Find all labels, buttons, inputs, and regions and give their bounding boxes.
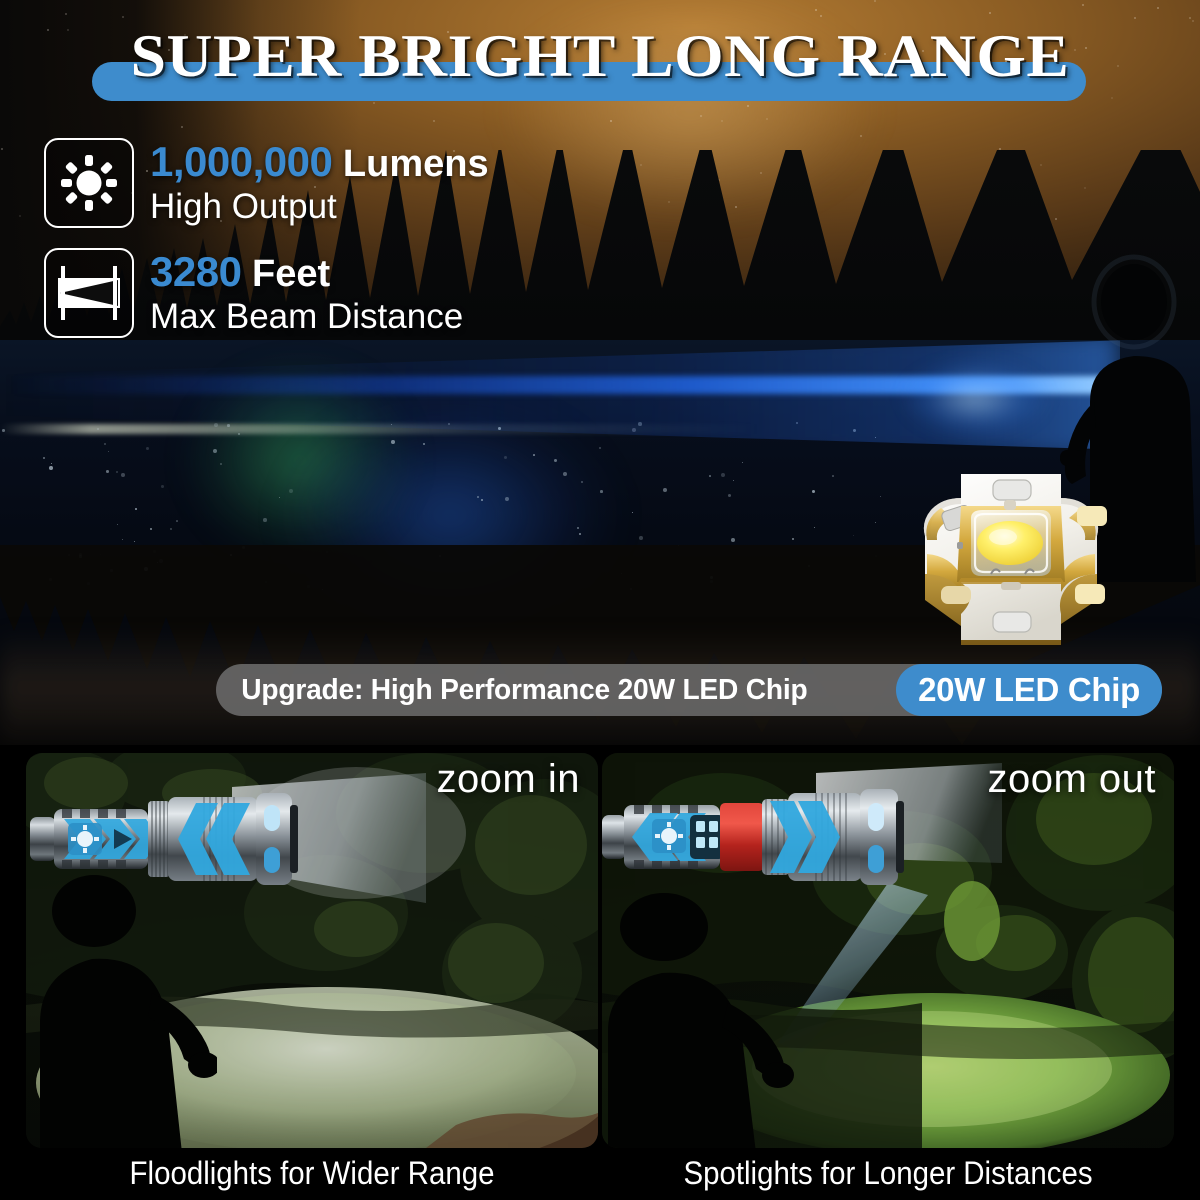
spec-text-lumens: 1,000,000 Lumens High Output — [150, 138, 489, 228]
mode-label-spot: zoom out — [987, 757, 1156, 802]
spec-text-distance: 3280 Feet Max Beam Distance — [150, 248, 463, 338]
spec-caption: Max Beam Distance — [150, 296, 463, 338]
person-silhouette-flood — [32, 873, 217, 1148]
infographic-root: SUPER BRIGHT LONG RANGE — [0, 0, 1200, 1200]
flashlight-zoom-in — [28, 783, 346, 893]
spec-unit: Lumens — [343, 143, 489, 185]
comparison-panels: zoom in — [0, 745, 1200, 1200]
page-title: SUPER BRIGHT LONG RANGE — [0, 22, 1200, 91]
upgrade-banner: Upgrade: High Performance 20W LED Chip 2… — [216, 664, 1162, 716]
spec-value-line: 1,000,000 Lumens — [150, 140, 489, 186]
upgrade-banner-text: Upgrade: High Performance 20W LED Chip — [216, 674, 807, 707]
spec-row-distance: 3280 Feet Max Beam Distance — [44, 248, 664, 338]
beam-distance-icon — [44, 248, 134, 338]
spec-caption: High Output — [150, 186, 489, 228]
person-silhouette-spot — [604, 891, 794, 1148]
mode-label-flood: zoom in — [436, 757, 580, 802]
led-chip-graphic — [865, 470, 1155, 655]
spec-unit: Feet — [252, 253, 330, 295]
spec-list: 1,000,000 Lumens High Output 3280 Feet M… — [44, 138, 664, 358]
flashlight-zoom-out — [602, 781, 932, 893]
spec-row-lumens: 1,000,000 Lumens High Output — [44, 138, 664, 228]
caption-spot: Spotlights for Longer Distances — [625, 1155, 1151, 1192]
chip-badge: 20W LED Chip — [896, 664, 1162, 716]
chip-badge-label: 20W LED Chip — [918, 671, 1140, 709]
panel-spot: zoom out — [602, 753, 1174, 1148]
spec-value: 3280 — [150, 248, 241, 295]
hero-title-block: SUPER BRIGHT LONG RANGE — [0, 12, 1200, 102]
spec-value-line: 3280 Feet — [150, 250, 463, 296]
spec-value: 1,000,000 — [150, 138, 332, 185]
brightness-sun-icon — [44, 138, 134, 228]
caption-flood: Floodlights for Wider Range — [49, 1155, 575, 1192]
panel-flood: zoom in — [26, 753, 598, 1148]
hero-night-scene: SUPER BRIGHT LONG RANGE — [0, 0, 1200, 745]
